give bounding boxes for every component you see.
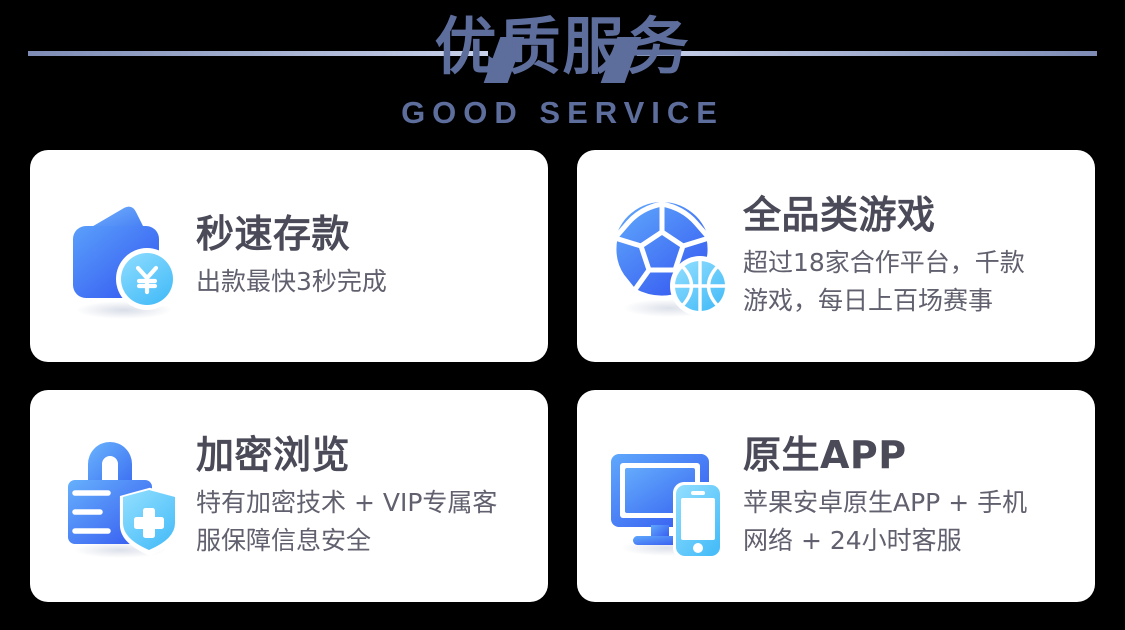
card-description: 苹果安卓原生APP + 手机 网络 + 24小时客服 [743,484,1075,560]
card-title: 加密浏览 [196,432,528,478]
card-description-line: 特有加密技术 + VIP专属客 [196,484,528,522]
card-description-line: 超过18家合作平台，千款 [743,244,1075,282]
card-description: 超过18家合作平台，千款 游戏，每日上百场赛事 [743,244,1075,320]
wallet-yen-icon [56,190,188,322]
card-description-line: 苹果安卓原生APP + 手机 [743,484,1075,522]
page-subtitle: GOOD SERVICE [0,94,1125,132]
feature-card-native-app[interactable]: 原生APP 苹果安卓原生APP + 手机 网络 + 24小时客服 [577,390,1095,602]
card-title: 秒速存款 [196,211,528,257]
card-title: 原生APP [743,432,1075,478]
card-title: 全品类游戏 [743,192,1075,238]
card-description: 特有加密技术 + VIP专属客 服保障信息安全 [196,484,528,560]
card-description-line: 游戏，每日上百场赛事 [743,282,1075,320]
page-title: 优质服务 [0,8,1125,86]
lock-shield-icon [56,430,188,562]
feature-card-grid: 秒速存款 出款最快3秒完成 [30,150,1095,602]
card-text-block: 加密浏览 特有加密技术 + VIP专属客 服保障信息安全 [196,432,528,560]
card-text-block: 原生APP 苹果安卓原生APP + 手机 网络 + 24小时客服 [743,432,1075,560]
feature-card-all-category-games[interactable]: 全品类游戏 超过18家合作平台，千款 游戏，每日上百场赛事 [577,150,1095,362]
card-description-line: 网络 + 24小时客服 [743,522,1075,560]
feature-card-encrypted-browsing[interactable]: 加密浏览 特有加密技术 + VIP专属客 服保障信息安全 [30,390,548,602]
card-description-line: 出款最快3秒完成 [196,263,528,301]
card-text-block: 全品类游戏 超过18家合作平台，千款 游戏，每日上百场赛事 [743,192,1075,320]
card-text-block: 秒速存款 出款最快3秒完成 [196,211,528,301]
page-header: 优质服务 GOOD SERVICE [0,0,1125,145]
card-description: 出款最快3秒完成 [196,263,528,301]
soccer-basketball-icon [603,190,735,322]
monitor-phone-icon [603,430,735,562]
card-description-line: 服保障信息安全 [196,522,528,560]
feature-card-instant-deposit[interactable]: 秒速存款 出款最快3秒完成 [30,150,548,362]
